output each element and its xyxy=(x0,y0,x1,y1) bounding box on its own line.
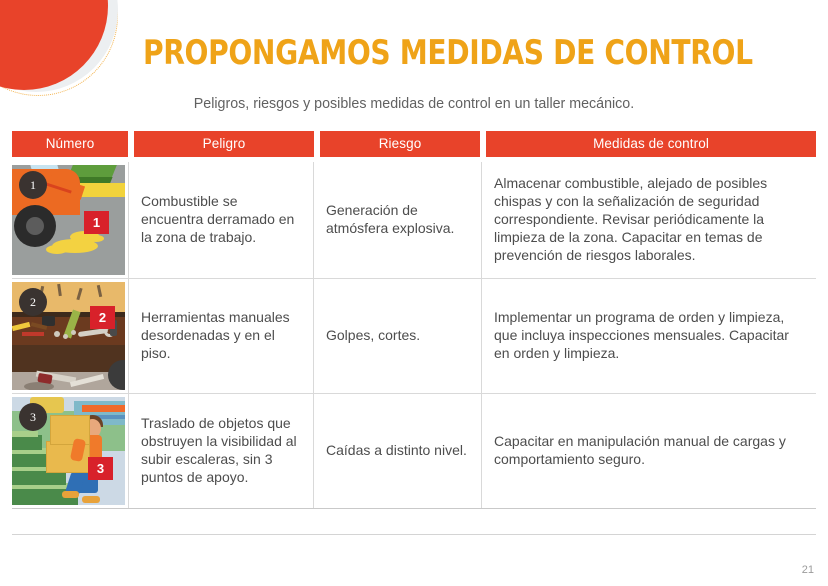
column-header-medidas: Medidas de control xyxy=(486,131,816,157)
image-circle-badge: 2 xyxy=(19,288,47,316)
row-image-cell: 1 1 xyxy=(12,162,128,278)
hazard-illustration-messy-workbench: 2 2 xyxy=(12,282,125,390)
cell-peligro: Traslado de objetos que obstruyen la vis… xyxy=(128,394,313,508)
footer-divider xyxy=(12,534,816,535)
row-image-cell: 2 2 xyxy=(12,279,128,393)
stair-step-top xyxy=(12,431,38,437)
page-subtitle: Peligros, riesgos y posibles medidas de … xyxy=(21,95,808,112)
image-square-badge: 2 xyxy=(90,306,115,329)
dark-red-shape-decoration xyxy=(0,0,40,60)
cell-medidas: Capacitar en manipulación manual de carg… xyxy=(481,394,816,508)
image-circle-badge: 1 xyxy=(19,171,47,199)
red-block-decoration xyxy=(0,0,28,20)
wheel-hub-shape xyxy=(26,217,44,235)
cell-riesgo: Caídas a distinto nivel. xyxy=(313,394,481,508)
table-body: 1 1 Combustible se encuentra derramado e… xyxy=(12,162,816,509)
nut-shape xyxy=(71,330,76,335)
dotted-circle-decoration xyxy=(0,0,118,96)
row-image-cell: 3 3 xyxy=(12,394,128,508)
worker-shoe-shape xyxy=(82,496,100,503)
page-title: PROPONGAMOS MEDIDAS DE CONTROL xyxy=(143,33,753,73)
gray-circle-decoration xyxy=(0,0,118,92)
slide-root: PROPONGAMOS MEDIDAS DE CONTROL Peligros,… xyxy=(0,0,828,586)
control-measures-table: Número Peligro Riesgo Medidas de control xyxy=(12,131,816,509)
cell-medidas: Almacenar combustible, alejado de posibl… xyxy=(481,162,816,278)
column-header-peligro: Peligro xyxy=(134,131,314,157)
image-square-badge: 3 xyxy=(88,457,113,480)
cell-peligro: Herramientas manuales desordenadas y en … xyxy=(128,279,313,393)
table-row: 3 3 Traslado de objetos que obstruyen la… xyxy=(12,394,816,509)
worker-shoe-shape xyxy=(62,491,79,498)
table-row: 2 2 Herramientas manuales desordenadas y… xyxy=(12,279,816,394)
image-square-badge: 1 xyxy=(84,211,109,234)
red-tool-shape xyxy=(22,332,44,336)
table-row: 1 1 Combustible se encuentra derramado e… xyxy=(12,162,816,279)
red-circle-decoration xyxy=(0,0,108,90)
image-circle-badge: 3 xyxy=(19,403,47,431)
column-header-riesgo: Riesgo xyxy=(320,131,480,157)
cell-riesgo: Golpes, cortes. xyxy=(313,279,481,393)
nut-shape xyxy=(63,334,68,339)
hazard-illustration-stairs-carrying-boxes: 3 3 xyxy=(12,397,125,505)
cell-medidas: Implementar un programa de orden y limpi… xyxy=(481,279,816,393)
cell-peligro: Combustible se encuentra derramado en la… xyxy=(128,162,313,278)
cell-riesgo: Generación de atmósfera explosiva. xyxy=(313,162,481,278)
hazard-illustration-fuel-spill: 1 1 xyxy=(12,165,125,275)
yellow-shape-decoration xyxy=(0,0,36,88)
fuel-spill-shape xyxy=(46,245,68,254)
yellow-panel-shape xyxy=(78,183,125,197)
page-number: 21 xyxy=(802,564,814,576)
fuel-spill-shape xyxy=(88,235,104,242)
stair-step xyxy=(12,435,42,450)
orange-shelf-shape xyxy=(82,405,125,412)
column-header-numero: Número xyxy=(12,131,128,157)
table-header-row: Número Peligro Riesgo Medidas de control xyxy=(12,131,816,157)
nut-shape xyxy=(54,331,60,337)
